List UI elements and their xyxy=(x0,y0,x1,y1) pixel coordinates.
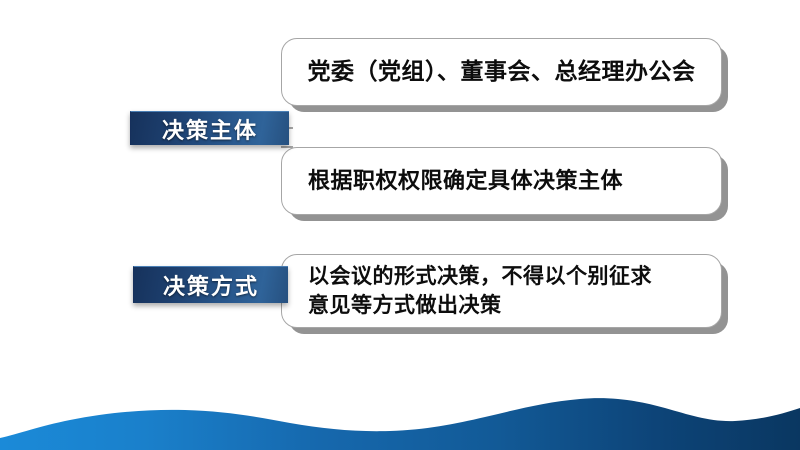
wave-shape xyxy=(0,398,800,450)
bottom-wave-decoration xyxy=(0,390,800,450)
content-box-text: 党委（党组）、董事会、总经理办公会 xyxy=(304,57,699,87)
content-box-decision-subjects[interactable]: 党委（党组）、董事会、总经理办公会 xyxy=(281,38,722,106)
category-label-text: 决策方式 xyxy=(163,269,259,301)
slide-canvas: 党委（党组）、董事会、总经理办公会 根据职权权限确定具体决策主体 以会议的形式决… xyxy=(0,0,800,450)
category-label-text: 决策主体 xyxy=(162,113,258,145)
category-label-decision-subject[interactable]: 决策主体 xyxy=(130,111,289,145)
content-box-text: 根据职权权限确定具体决策主体 xyxy=(308,166,695,195)
content-box-authority-scope[interactable]: 根据职权权限确定具体决策主体 xyxy=(281,147,722,215)
content-box-text: 以会议的形式决策，不得以个别征求 意见等方式做出决策 xyxy=(308,262,695,319)
category-label-decision-method[interactable]: 决策方式 xyxy=(133,266,288,303)
content-box-meeting-form[interactable]: 以会议的形式决策，不得以个别征求 意见等方式做出决策 xyxy=(281,254,722,328)
